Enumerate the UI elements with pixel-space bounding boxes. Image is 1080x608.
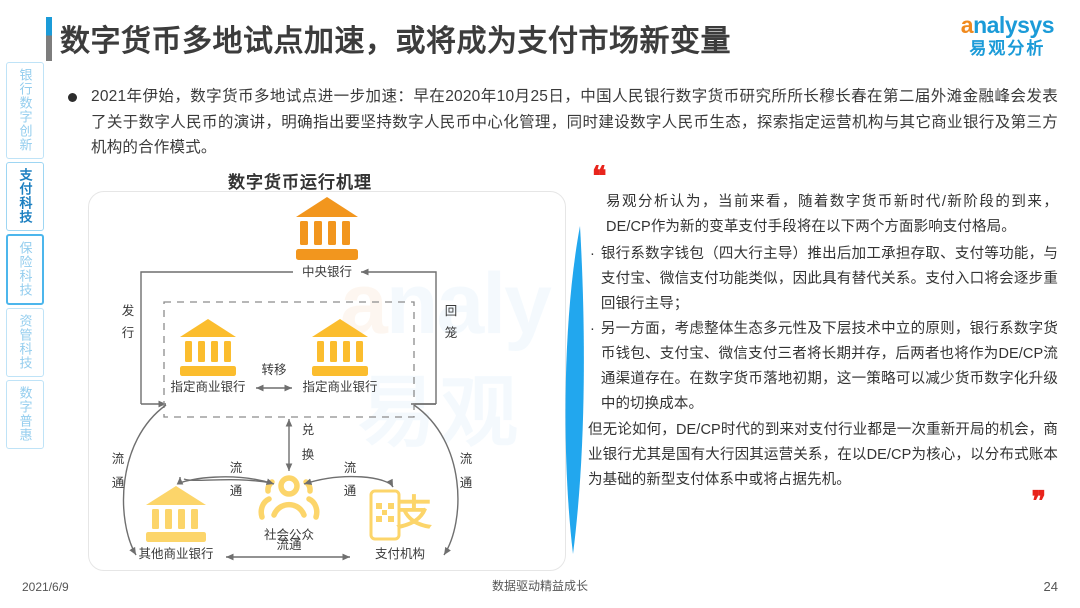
brand-logo: analysys 易观分析 <box>961 14 1054 57</box>
sidebar-item-insurance-tech[interactable]: 保险科技 <box>6 234 44 305</box>
diagram-title: 数字货币运行机理 <box>228 168 372 193</box>
edge-label-flow-right-2: 通 <box>344 484 357 498</box>
central-bank-icon <box>296 197 358 260</box>
footer-page-number: 24 <box>1044 579 1058 594</box>
public-people-icon <box>261 478 317 517</box>
blue-leaf-divider <box>560 222 586 558</box>
edge-label-flow-bottom: 流通 <box>276 538 302 552</box>
edge-label-circulate-right-2: 通 <box>460 476 473 490</box>
sidebar-item-payment-tech[interactable]: 支付科技 <box>6 162 44 231</box>
edge-label-issue-2: 行 <box>122 326 135 340</box>
list-bullet-icon: · <box>590 317 595 417</box>
analysis-panel: ❝ 易观分析认为，当前来看，随着数字货币新时代/新阶段的到来，DE/CP作为新的… <box>588 168 1058 493</box>
sidebar-item-digital-inclusive-finance[interactable]: 数字普惠 <box>6 380 44 449</box>
brand-logo-rest: nalysys <box>973 12 1054 38</box>
edge-label-exchange-2: 换 <box>302 448 315 462</box>
other-bank-label: 其他商业银行 <box>138 546 213 561</box>
edge-label-circulate-left-2: 通 <box>112 476 125 490</box>
mobile-pay-icon: 支 <box>371 491 432 539</box>
brand-logo-initial: a <box>961 12 973 38</box>
category-sidebar[interactable]: 银行数字创新 支付科技 保险科技 资管科技 数字普惠 <box>6 62 44 449</box>
list-bullet-icon: · <box>590 242 595 317</box>
payment-institution-label: 支付机构 <box>375 546 425 561</box>
edge-label-recall-1: 回 <box>445 304 458 318</box>
title-accent-bar <box>46 17 52 61</box>
sidebar-item-asset-management-tech[interactable]: 资管科技 <box>6 308 44 377</box>
slide-root: analy 易观 analysys 易观分析 数字货币多地试点加速，或将成为支付… <box>0 0 1080 608</box>
footer-slogan: 数据驱动精益成长 <box>0 577 1080 594</box>
list-item: · 银行系数字钱包（四大行主导）推出后加工承担存取、支付等功能，与支付宝、微信支… <box>590 242 1058 317</box>
central-bank-label: 中央银行 <box>302 264 352 279</box>
edge-label-circulate-left-1: 流 <box>112 452 125 466</box>
list-item: · 另一方面，考虑整体生态多元性及下层技术中立的原则，银行系数字货币钱包、支付宝… <box>590 317 1058 417</box>
edge-label-flow-left-2: 通 <box>230 484 243 498</box>
quote-open-icon: ❝ <box>592 168 1058 188</box>
designated-bank-right-label: 指定商业银行 <box>302 379 377 394</box>
page-title: 数字货币多地试点加速，或将成为支付市场新变量 <box>60 16 731 60</box>
edge-label-recall-2: 笼 <box>445 325 458 340</box>
edge-label-exchange-1: 兑 <box>302 423 315 437</box>
edge-label-issue-1: 发 <box>122 303 135 318</box>
designated-bank-left-label: 指定商业银行 <box>170 379 245 394</box>
analysis-list-item-2: 另一方面，考虑整体生态多元性及下层技术中立的原则，银行系数字货币钱包、支付宝、微… <box>601 317 1058 417</box>
quote-close-icon: ❞ <box>1031 493 1044 509</box>
digital-currency-flow-diagram: 中央银行 发 行 回 笼 指定商业银行 <box>88 191 566 571</box>
intro-bullet-text: 2021年伊始，数字货币多地试点进一步加速：早在2020年10月25日，中国人民… <box>91 84 1058 161</box>
intro-bullet: 2021年伊始，数字货币多地试点进一步加速：早在2020年10月25日，中国人民… <box>68 84 1058 161</box>
analysis-list-item-1: 银行系数字钱包（四大行主导）推出后加工承担存取、支付等功能，与支付宝、微信支付功… <box>601 242 1058 317</box>
edge-label-circulate-right-1: 流 <box>460 452 473 466</box>
brand-logo-cn: 易观分析 <box>961 40 1054 57</box>
sidebar-item-bank-digital-innovation[interactable]: 银行数字创新 <box>6 62 44 159</box>
edge-label-flow-left-1: 流 <box>230 461 243 475</box>
brand-logo-text: analysys <box>961 14 1054 37</box>
svg-text:支: 支 <box>396 492 432 533</box>
designated-bank-right-icon <box>312 319 368 376</box>
designated-bank-left-icon <box>180 319 236 376</box>
analysis-conclusion-text: 但无论如何，DE/CP时代的到来对支付行业都是一次重新开局的机会，商业银行尤其是… <box>588 418 1058 493</box>
edge-label-transfer: 转移 <box>261 362 286 377</box>
edge-label-flow-right-1: 流 <box>344 461 357 475</box>
analysis-intro-text: 易观分析认为，当前来看，随着数字货币新时代/新阶段的到来，DE/CP作为新的变革… <box>606 190 1058 240</box>
other-bank-icon <box>146 486 206 542</box>
bullet-dot-icon <box>68 93 77 102</box>
analysis-list: · 银行系数字钱包（四大行主导）推出后加工承担存取、支付等功能，与支付宝、微信支… <box>588 242 1058 417</box>
